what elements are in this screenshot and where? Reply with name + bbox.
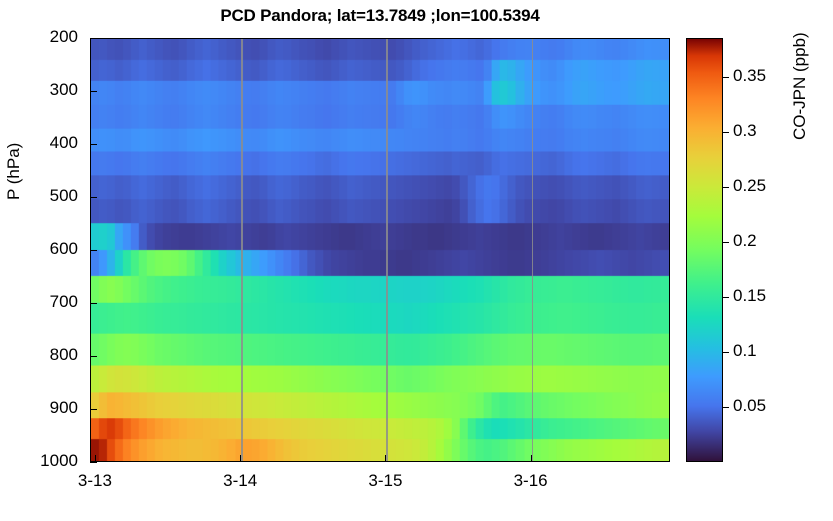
heatmap-axes[interactable] (90, 38, 670, 462)
colorbar-gradient (687, 39, 722, 461)
colorbar-tick-label: 0.35 (733, 66, 766, 86)
colorbar-tick-label: 0.3 (733, 121, 757, 141)
colorbar-tick-label: 0.05 (733, 396, 766, 416)
y-tick-mark (90, 250, 97, 251)
colorbar-tick-mark (723, 77, 729, 78)
heatmap-canvas[interactable] (91, 39, 669, 461)
colorbar-tick-mark (723, 187, 729, 188)
y-tick-label: 700 (0, 292, 78, 312)
x-tick-label: 3-14 (200, 471, 280, 491)
y-tick-mark (90, 38, 97, 39)
x-tick-mark (531, 455, 532, 462)
y-tick-mark (90, 197, 97, 198)
colorbar-tick-mark (723, 407, 729, 408)
x-tick-label: 3-13 (55, 471, 135, 491)
x-tick-mark (95, 455, 96, 462)
page-title: PCD Pandora; lat=13.7849 ;lon=100.5394 (90, 6, 670, 26)
colorbar-tick-label: 0.2 (733, 231, 757, 251)
y-tick-label: 200 (0, 27, 78, 47)
x-tick-mark (240, 455, 241, 462)
colorbar-tick-mark (723, 352, 729, 353)
colorbar-tick-label: 0.1 (733, 341, 757, 361)
colorbar-tick-mark (723, 242, 729, 243)
y-tick-label: 300 (0, 80, 78, 100)
y-tick-mark (90, 409, 97, 410)
colorbar-tick-label: 0.25 (733, 176, 766, 196)
y-axis-label: P (hPa) (4, 143, 24, 200)
colorbar-tick-mark (723, 132, 729, 133)
y-tick-label: 1000 (0, 451, 78, 471)
colorbar-label: CO-JPN (ppb) (790, 32, 810, 140)
y-tick-label: 800 (0, 345, 78, 365)
y-tick-label: 600 (0, 239, 78, 259)
y-tick-mark (90, 303, 97, 304)
x-tick-label: 3-16 (491, 471, 571, 491)
colorbar-tick-label: 0.15 (733, 286, 766, 306)
y-tick-mark (90, 91, 97, 92)
x-tick-label: 3-15 (345, 471, 425, 491)
y-tick-mark (90, 144, 97, 145)
figure-root: PCD Pandora; lat=13.7849 ;lon=100.5394 2… (0, 0, 833, 521)
colorbar[interactable] (686, 38, 723, 462)
y-tick-mark (90, 356, 97, 357)
y-tick-label: 900 (0, 398, 78, 418)
x-tick-mark (385, 455, 386, 462)
colorbar-tick-mark (723, 297, 729, 298)
y-tick-mark (90, 462, 97, 463)
